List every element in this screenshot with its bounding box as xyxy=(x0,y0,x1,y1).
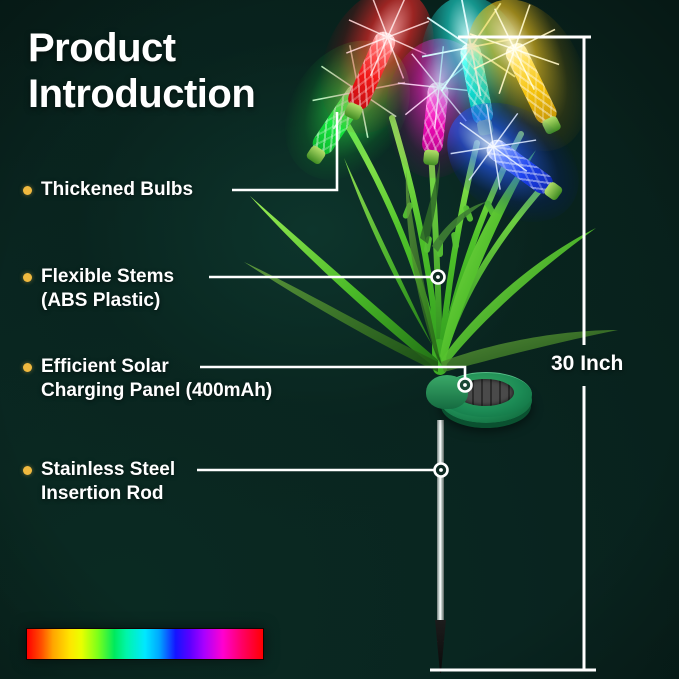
title-line-2: Introduction xyxy=(28,72,255,118)
feature-label: Efficient Solar Charging Panel (400mAh) xyxy=(41,355,272,402)
feature-line-1: Stainless Steel xyxy=(41,459,175,480)
title-line-1: Product xyxy=(28,26,255,72)
feature-line-2: Insertion Rod xyxy=(41,482,175,506)
feature-line-2: (ABS Plastic) xyxy=(41,289,174,313)
stem-collar xyxy=(426,375,468,409)
feature-label: Stainless Steel Insertion Rod xyxy=(41,458,175,505)
stainless-steel-rod xyxy=(437,420,444,642)
feature-line-1: Thickened Bulbs xyxy=(41,179,193,200)
solar-panel-head xyxy=(426,369,532,427)
bullet-dot-icon xyxy=(23,466,32,475)
bullet-dot-icon xyxy=(23,186,32,195)
dimension-label: 30 Inch xyxy=(551,352,623,376)
page-title: Product Introduction xyxy=(28,26,255,117)
feature-label: Flexible Stems (ABS Plastic) xyxy=(41,265,174,312)
bullet-dot-icon xyxy=(23,273,32,282)
feature-line-2: Charging Panel (400mAh) xyxy=(41,379,272,403)
feature-solar-panel: Efficient Solar Charging Panel (400mAh) xyxy=(23,355,272,402)
feature-thickened-bulbs: Thickened Bulbs xyxy=(23,178,193,202)
feature-insertion-rod: Stainless Steel Insertion Rod xyxy=(23,458,175,505)
feature-line-1: Efficient Solar xyxy=(41,356,169,377)
feature-line-1: Flexible Stems xyxy=(41,266,174,287)
feature-flexible-stems: Flexible Stems (ABS Plastic) xyxy=(23,265,174,312)
product-introduction-infographic: Product Introduction Thickened Bulbs Fle… xyxy=(0,0,679,679)
rgb-color-gradient-swatch xyxy=(26,628,264,660)
feature-label: Thickened Bulbs xyxy=(41,178,193,202)
bullet-dot-icon xyxy=(23,363,32,372)
